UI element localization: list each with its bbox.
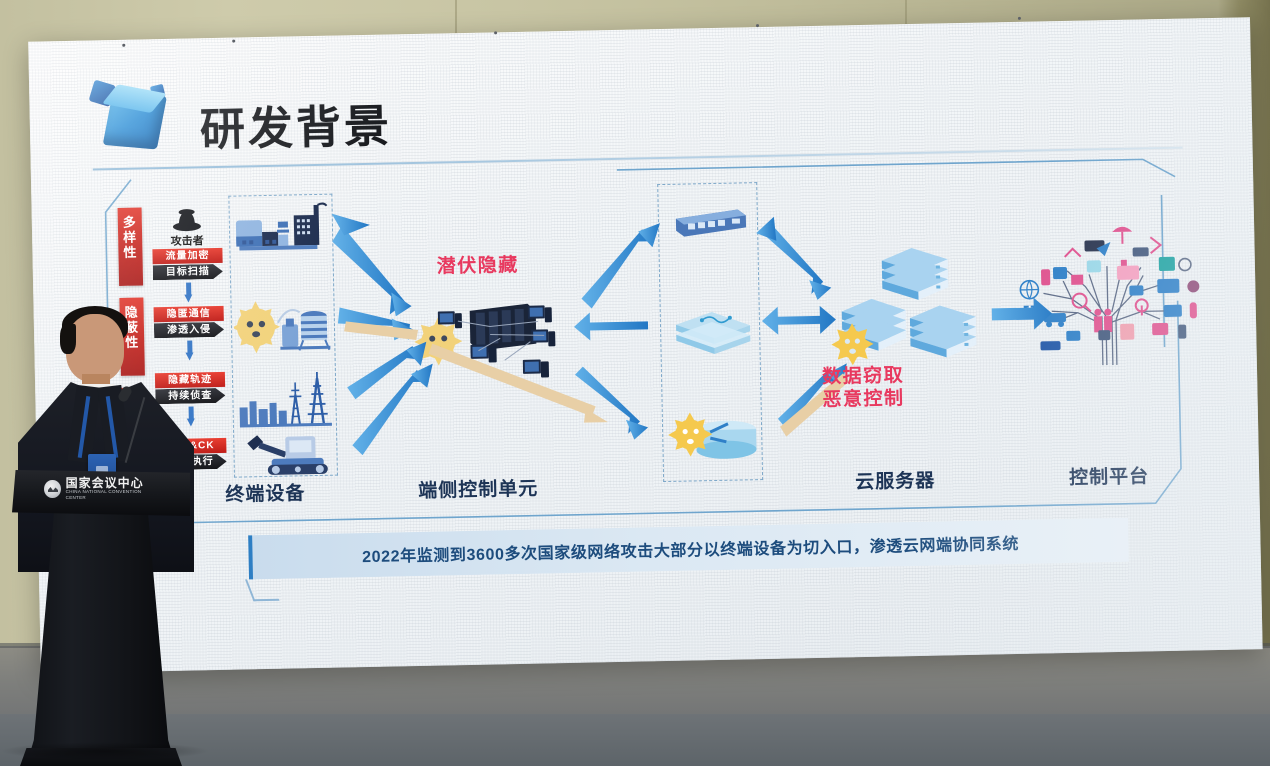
column-label-terminal-devices: 终端设备 [225, 478, 306, 507]
venue-name-cn: 国家会议中心 [66, 477, 156, 489]
lurking-note: 潜伏隐藏 [437, 254, 519, 279]
presentation-slide: 研发背景 多 样 性 隐 蔽 [28, 17, 1262, 673]
data-theft-line-2: 恶意控制 [822, 387, 904, 412]
data-layer-icon [672, 305, 755, 355]
category-char: 样 [118, 229, 142, 244]
database-virus-icon [666, 405, 761, 465]
venue-logo-icon [44, 480, 61, 498]
category-bar-diversity: 多 样 性 [118, 207, 144, 285]
column-label-control-platform: 控制平台 [1069, 461, 1150, 490]
podium-top: 国家会议中心 CHINA NATIONAL CONVENTION CENTER [12, 470, 190, 516]
column-label-edge-control-unit: 端侧控制单元 [418, 474, 539, 503]
summary-banner: 2022年监测到3600多次国家级网络攻击大部分以终端设备为切入口，渗透云网端协… [248, 518, 1129, 580]
blue-cube-icon [91, 79, 185, 159]
virus-icon [829, 321, 876, 368]
attacker-label: 攻击者 [152, 232, 222, 249]
data-theft-note: 数据窃取 恶意控制 [822, 364, 905, 412]
led-screen: 研发背景 多 样 性 隐 蔽 [28, 17, 1262, 673]
excavator-icon [241, 428, 334, 478]
venue-name-en: CHINA NATIONAL CONVENTION CENTER [66, 489, 156, 501]
chain-step-black-1: 目标扫描 [153, 264, 223, 280]
slide-title-row: 研发背景 [91, 74, 393, 158]
podium: 国家会议中心 CHINA NATIONAL CONVENTION CENTER [12, 470, 190, 766]
attacker-hat-icon [170, 206, 205, 233]
led-screen-wrapper: 研发背景 多 样 性 隐 蔽 [14, 7, 1270, 682]
power-grid-icon [237, 372, 334, 430]
data-theft-line-1: 数据窃取 [822, 364, 904, 389]
venue-plaque: 国家会议中心 CHINA NATIONAL CONVENTION CENTER [44, 476, 156, 502]
network-link-lines [434, 311, 575, 384]
category-char: 性 [118, 244, 142, 259]
presenter-hair-side [60, 324, 76, 354]
chain-step-red-1: 流量加密 [152, 248, 222, 264]
network-switch-icon [672, 205, 751, 241]
factory-plant-icon [233, 201, 330, 265]
column-label-cloud-server: 云服务器 [855, 466, 936, 495]
banner-tail-decoration [245, 579, 279, 601]
microphone-icon [104, 386, 148, 466]
summary-banner-text: 2022年监测到3600多次国家级网络攻击大部分以终端设备为切入口，渗透云网端协… [362, 530, 1019, 567]
podium-body [28, 510, 174, 760]
podium-shadow [0, 742, 210, 760]
category-char: 多 [118, 214, 142, 229]
page-title: 研发背景 [200, 103, 393, 156]
chemical-plant-virus-icon [233, 294, 334, 358]
iot-app-tree-icon [1000, 218, 1213, 367]
cloud-server-stack-icon [906, 303, 981, 370]
